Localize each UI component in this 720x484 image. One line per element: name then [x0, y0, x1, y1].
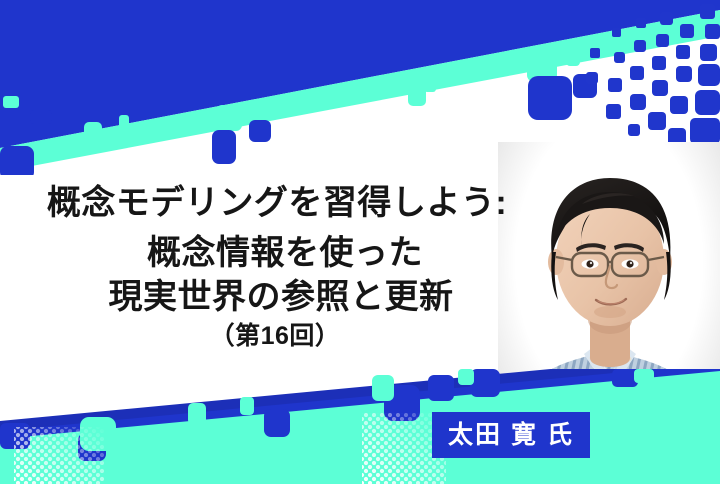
title-line-1: 概念モデリングを習得しよう: — [0, 186, 540, 220]
title-slide: 概念モデリングを習得しよう: 概念情報を使った 現実世界の参照と更新 （第16回… — [0, 0, 720, 484]
title-line-4-episode: （第16回） — [0, 324, 540, 349]
title-line-3: 現実世界の参照と更新 — [0, 280, 540, 314]
page-title: 概念モデリングを習得しよう: 概念情報を使った 現実世界の参照と更新 （第16回… — [0, 186, 540, 349]
pixel-checker-pattern — [586, 4, 720, 146]
title-line-2: 概念情報を使った — [0, 236, 540, 270]
speaker-name-badge: 太田 寛 氏 — [432, 412, 590, 458]
speaker-name-label: 太田 寛 氏 — [448, 423, 574, 448]
